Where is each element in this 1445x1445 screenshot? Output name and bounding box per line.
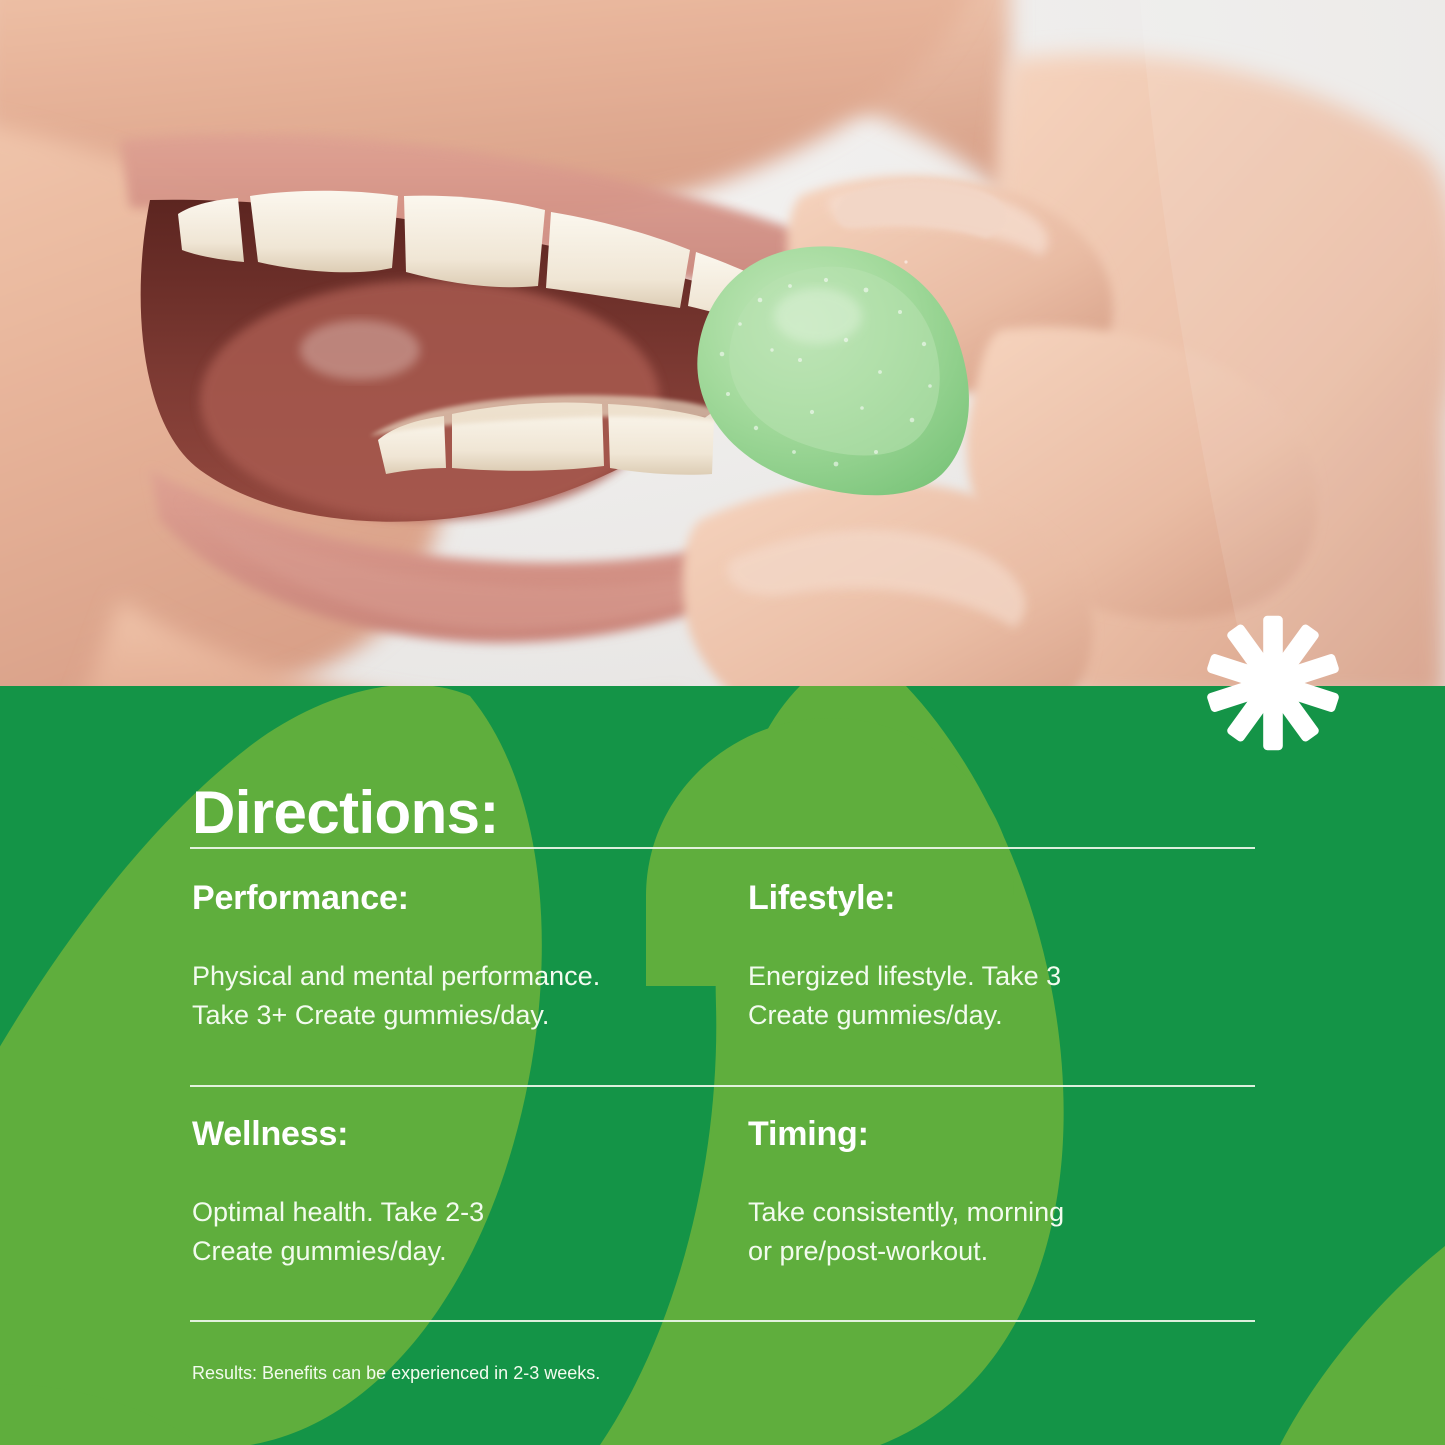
section-wellness-line-1: Optimal health. Take 2-3 — [192, 1193, 712, 1231]
section-timing-body: Take consistently, morning or pre/post-w… — [748, 1193, 1268, 1270]
section-lifestyle-line-1: Energized lifestyle. Take 3 — [748, 957, 1268, 995]
section-timing-line-2: or pre/post-workout. — [748, 1232, 1268, 1270]
section-wellness: Wellness: Optimal health. Take 2-3 Creat… — [192, 1116, 712, 1270]
page-title: Directions: — [192, 783, 499, 843]
section-timing: Timing: Take consistently, morning or pr… — [748, 1116, 1268, 1270]
product-directions-card: Directions: Performance: Physical and me… — [0, 0, 1445, 1445]
section-performance: Performance: Physical and mental perform… — [192, 880, 712, 1034]
asterisk-icon — [1203, 613, 1343, 753]
hero-photo — [0, 0, 1445, 686]
divider-bottom — [190, 1320, 1255, 1322]
section-performance-heading: Performance: — [192, 880, 712, 917]
section-performance-body: Physical and mental performance. Take 3+… — [192, 957, 712, 1034]
section-performance-line-2: Take 3+ Create gummies/day. — [192, 996, 712, 1034]
section-lifestyle-line-2: Create gummies/day. — [748, 996, 1268, 1034]
section-wellness-body: Optimal health. Take 2-3 Create gummies/… — [192, 1193, 712, 1270]
section-timing-line-1: Take consistently, morning — [748, 1193, 1268, 1231]
divider-top — [190, 847, 1255, 849]
section-wellness-heading: Wellness: — [192, 1116, 712, 1153]
section-performance-line-1: Physical and mental performance. — [192, 957, 712, 995]
section-lifestyle-body: Energized lifestyle. Take 3 Create gummi… — [748, 957, 1268, 1034]
section-lifestyle: Lifestyle: Energized lifestyle. Take 3 C… — [748, 880, 1268, 1034]
section-timing-heading: Timing: — [748, 1116, 1268, 1153]
section-wellness-line-2: Create gummies/day. — [192, 1232, 712, 1270]
section-lifestyle-heading: Lifestyle: — [748, 880, 1268, 917]
divider-middle — [190, 1085, 1255, 1087]
results-footnote: Results: Benefits can be experienced in … — [192, 1362, 600, 1385]
hero-photo-illustration — [0, 0, 1445, 686]
directions-panel: Directions: Performance: Physical and me… — [0, 686, 1445, 1445]
